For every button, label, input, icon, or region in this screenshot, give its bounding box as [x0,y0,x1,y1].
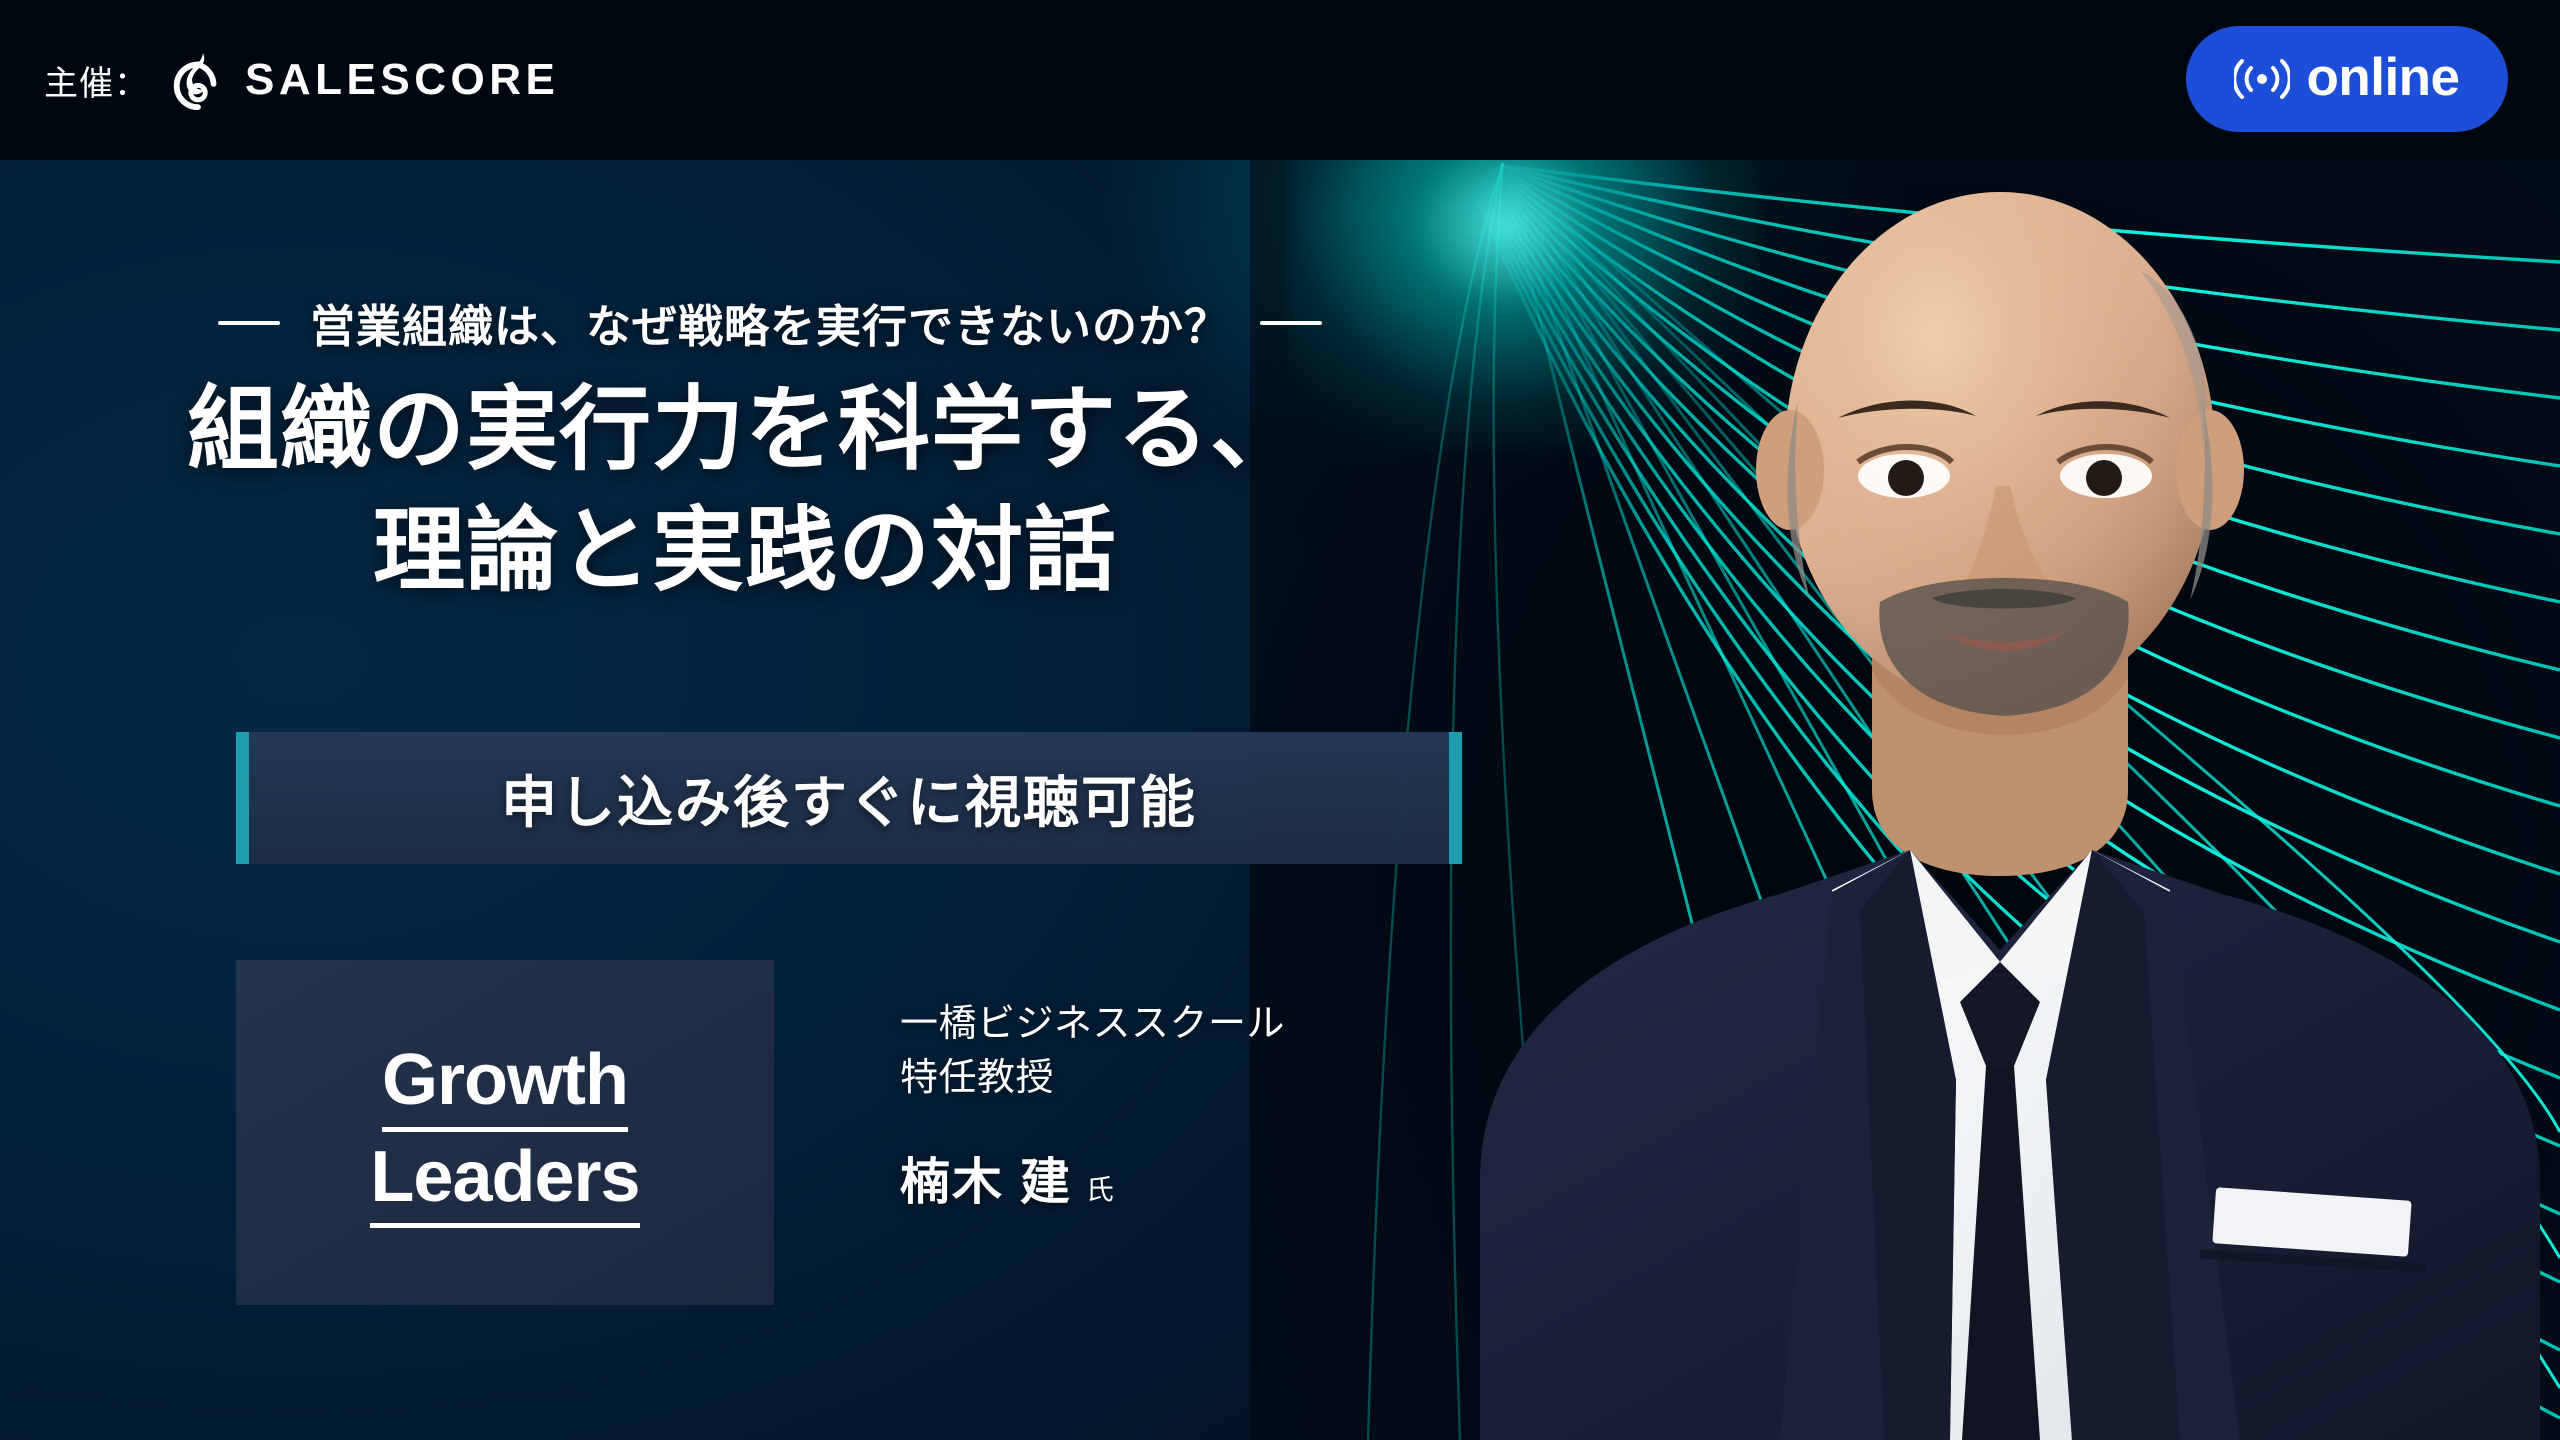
program-brand-line-1: Growth [382,1037,628,1132]
speaker-name: 楠木 建 [900,1142,1072,1214]
online-badge[interactable]: online [2186,26,2508,132]
brand-name: SALESCORE [245,55,559,105]
speaker-honorific: 氏 [1086,1168,1115,1208]
availability-banner: 申し込み後すぐに視聴可能 [236,732,1462,864]
speaker-portrait [1480,150,2560,1440]
eyebrow-text: 営業組織は、なぜ戦略を実行できないのか？ [310,290,1230,355]
webinar-banner: 営業組織は、なぜ戦略を実行できないのか？ 組織の実行力を科学する、 理論と実践の… [0,0,2560,1440]
host-block: 主催： SALESCORE [44,0,559,160]
top-header-bar: 主催： SALESCORE online [0,0,2560,160]
program-brand-box: Growth Leaders [236,960,774,1305]
speaker-info: 一橋ビジネススクール 特任教授 楠木 建 氏 [900,998,1500,1214]
hero-headline: 組織の実行力を科学する、 理論と実践の対話 [0,370,1490,613]
host-label: 主催： [44,56,149,105]
broadcast-signal-icon [2234,56,2290,102]
headline-line-2: 理論と実践の対話 [0,491,1490,612]
speaker-name-row: 楠木 建 氏 [900,1142,1500,1214]
headline-line-1: 組織の実行力を科学する、 [0,370,1490,491]
flame-circle-logo-icon [167,49,229,111]
availability-banner-text: 申し込み後すぐに視聴可能 [501,758,1197,839]
eyebrow-rule-left [218,321,280,325]
online-badge-label: online [2306,51,2459,104]
hero-eyebrow: 営業組織は、なぜ戦略を実行できないのか？ [0,290,1540,355]
program-brand-line-2: Leaders [370,1134,639,1229]
eyebrow-rule-right [1260,321,1322,325]
speaker-affiliation-line-1: 一橋ビジネススクール [900,998,1500,1052]
speaker-affiliation-line-2: 特任教授 [900,1052,1500,1106]
brand-logo[interactable]: SALESCORE [167,49,559,111]
